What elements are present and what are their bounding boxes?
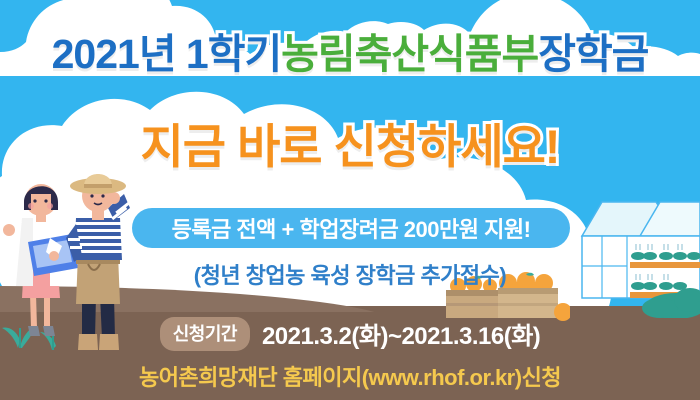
- website-line: 농어촌희망재단 홈페이지(www.rhof.or.kr)신청: [0, 360, 700, 392]
- headline-part-3: 장학금: [538, 20, 648, 80]
- period-label-badge: 신청기간: [160, 317, 250, 351]
- greenhouse-illustration: [580, 188, 700, 318]
- promotional-banner: 2021년 1학기 농림축산식품부 장학금 지금 바로 신청하세요! 등록금 전…: [0, 0, 700, 400]
- headline-part-2: 농림축산식품부: [281, 20, 538, 80]
- headline-part-1: 2021년 1학기: [52, 20, 282, 80]
- banner-subheadline: 지금 바로 신청하세요!: [0, 108, 700, 177]
- application-period-row: 신청기간 2021.3.2(화)~2021.3.16(화): [0, 316, 700, 351]
- banner-headline: 2021년 1학기 농림축산식품부 장학금: [0, 20, 700, 80]
- sub-note-text: (청년 창업농 육성 장학금 추가접수): [0, 258, 700, 290]
- period-value-text: 2021.3.2(화)~2021.3.16(화): [262, 316, 540, 351]
- highlight-pill: 등록금 전액 + 학업장려금 200만원 지원!: [132, 208, 570, 248]
